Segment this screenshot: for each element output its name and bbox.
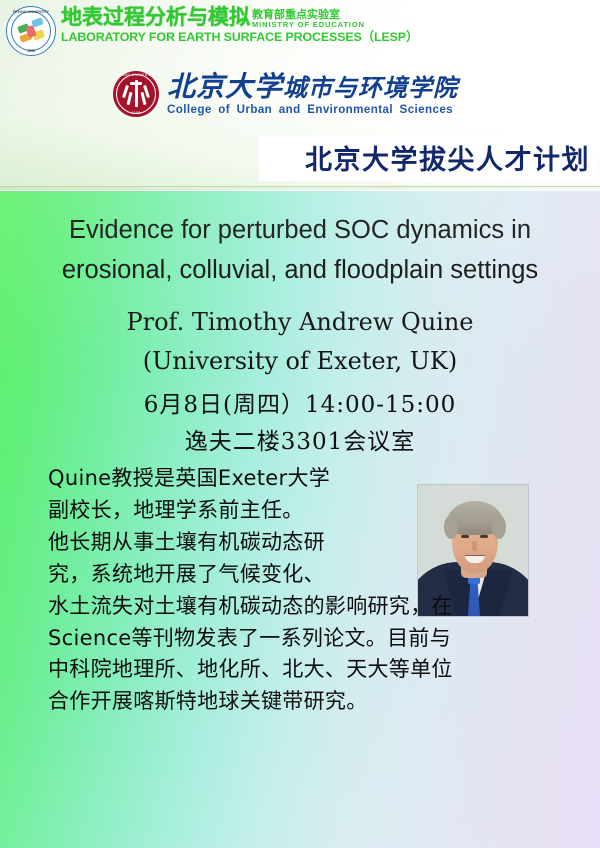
bio-line: Science等刊物发表了一系列论文。目前与 — [48, 623, 568, 655]
lesp-seal-glyph-icon — [16, 16, 46, 46]
lesp-logo-block: PEKING UNIVERSITY 1898 地表过程分析与模拟 教育部重点实验… — [6, 6, 418, 58]
program-banner-label: 北京大学拔尖人才计划 — [305, 138, 590, 177]
talk-title: Evidence for perturbed SOC dynamics in e… — [0, 211, 600, 290]
schedule-block: 6月8日(周四）14:00-15:00 逸夫二楼3301会议室 — [0, 387, 600, 462]
poster-body: Evidence for perturbed SOC dynamics in e… — [0, 191, 600, 848]
pku-college-logo-block: PEKING UNIVERSITY 1898 北京大学城市与环境学院 Colle… — [113, 71, 458, 117]
lesp-seal-ring-top: PEKING UNIVERSITY — [7, 10, 55, 14]
bio-line: 他长期从事土壤有机碳动态研 — [48, 527, 396, 559]
talk-venue: 逸夫二楼3301会议室 — [0, 424, 600, 461]
pku-name-cn: 北京大学 — [167, 70, 283, 103]
talk-datetime: 6月8日(周四）14:00-15:00 — [0, 387, 600, 424]
pku-seal-glyph-icon — [122, 80, 150, 108]
program-banner: 北京大学拔尖人才计划 — [259, 136, 596, 181]
speaker-name: Prof. Timothy Andrew Quine — [0, 303, 600, 342]
pku-seal-ring-top: PEKING UNIVERSITY — [113, 73, 159, 77]
pku-seal-ring-bottom: 1898 — [113, 111, 159, 115]
header-divider — [0, 186, 600, 190]
talk-title-line-2: erosional, colluvial, and floodplain set… — [0, 251, 600, 291]
speaker-block: Prof. Timothy Andrew Quine (University o… — [0, 303, 600, 381]
pku-seal-icon: PEKING UNIVERSITY 1898 — [113, 71, 159, 117]
lesp-ministry-block: 教育部重点实验室 MINISTRY OF EDUCATION — [252, 9, 365, 29]
lesp-title-row: 地表过程分析与模拟 教育部重点实验室 MINISTRY OF EDUCATION — [61, 7, 418, 28]
lesp-name-cn: 地表过程分析与模拟 — [61, 7, 250, 28]
pku-text-block: 北京大学城市与环境学院 College of Urban and Environ… — [167, 72, 458, 116]
lesp-ministry-en: MINISTRY OF EDUCATION — [252, 21, 365, 29]
poster-header: PEKING UNIVERSITY 1898 地表过程分析与模拟 教育部重点实验… — [0, 0, 600, 190]
pku-name-cn-sub: 城市与环境学院 — [283, 73, 458, 102]
pku-name-cn-row: 北京大学城市与环境学院 — [167, 72, 458, 101]
seminar-poster: PEKING UNIVERSITY 1898 地表过程分析与模拟 教育部重点实验… — [0, 0, 600, 848]
lesp-ministry-cn: 教育部重点实验室 — [252, 9, 365, 20]
bio-line: Quine教授是英国Exeter大学 — [48, 463, 396, 495]
speaker-affiliation: (University of Exeter, UK) — [0, 342, 600, 381]
bio-line: 究，系统地开展了气候变化、 — [48, 559, 396, 591]
talk-title-line-1: Evidence for perturbed SOC dynamics in — [0, 211, 600, 251]
bio-line: 中科院地理所、地化所、北大、天大等单位 — [48, 654, 568, 686]
speaker-bio: Quine教授是英国Exeter大学 副校长，地理学系前主任。 他长期从事土壤有… — [48, 463, 568, 718]
lesp-seal-icon: PEKING UNIVERSITY 1898 — [6, 6, 56, 56]
bio-line: 副校长，地理学系前主任。 — [48, 495, 396, 527]
bio-line: 水土流失对土壤有机碳动态的影响研究，在 — [48, 591, 568, 623]
lesp-seal-ring-bottom: 1898 — [7, 49, 55, 53]
bio-line: 合作开展喀斯特地球关键带研究。 — [48, 686, 568, 718]
lesp-name-en: LABORATORY FOR EARTH SURFACE PROCESSES（L… — [61, 31, 418, 43]
pku-name-en: College of Urban and Environmental Scien… — [167, 103, 458, 116]
lesp-text-block: 地表过程分析与模拟 教育部重点实验室 MINISTRY OF EDUCATION… — [61, 6, 418, 43]
